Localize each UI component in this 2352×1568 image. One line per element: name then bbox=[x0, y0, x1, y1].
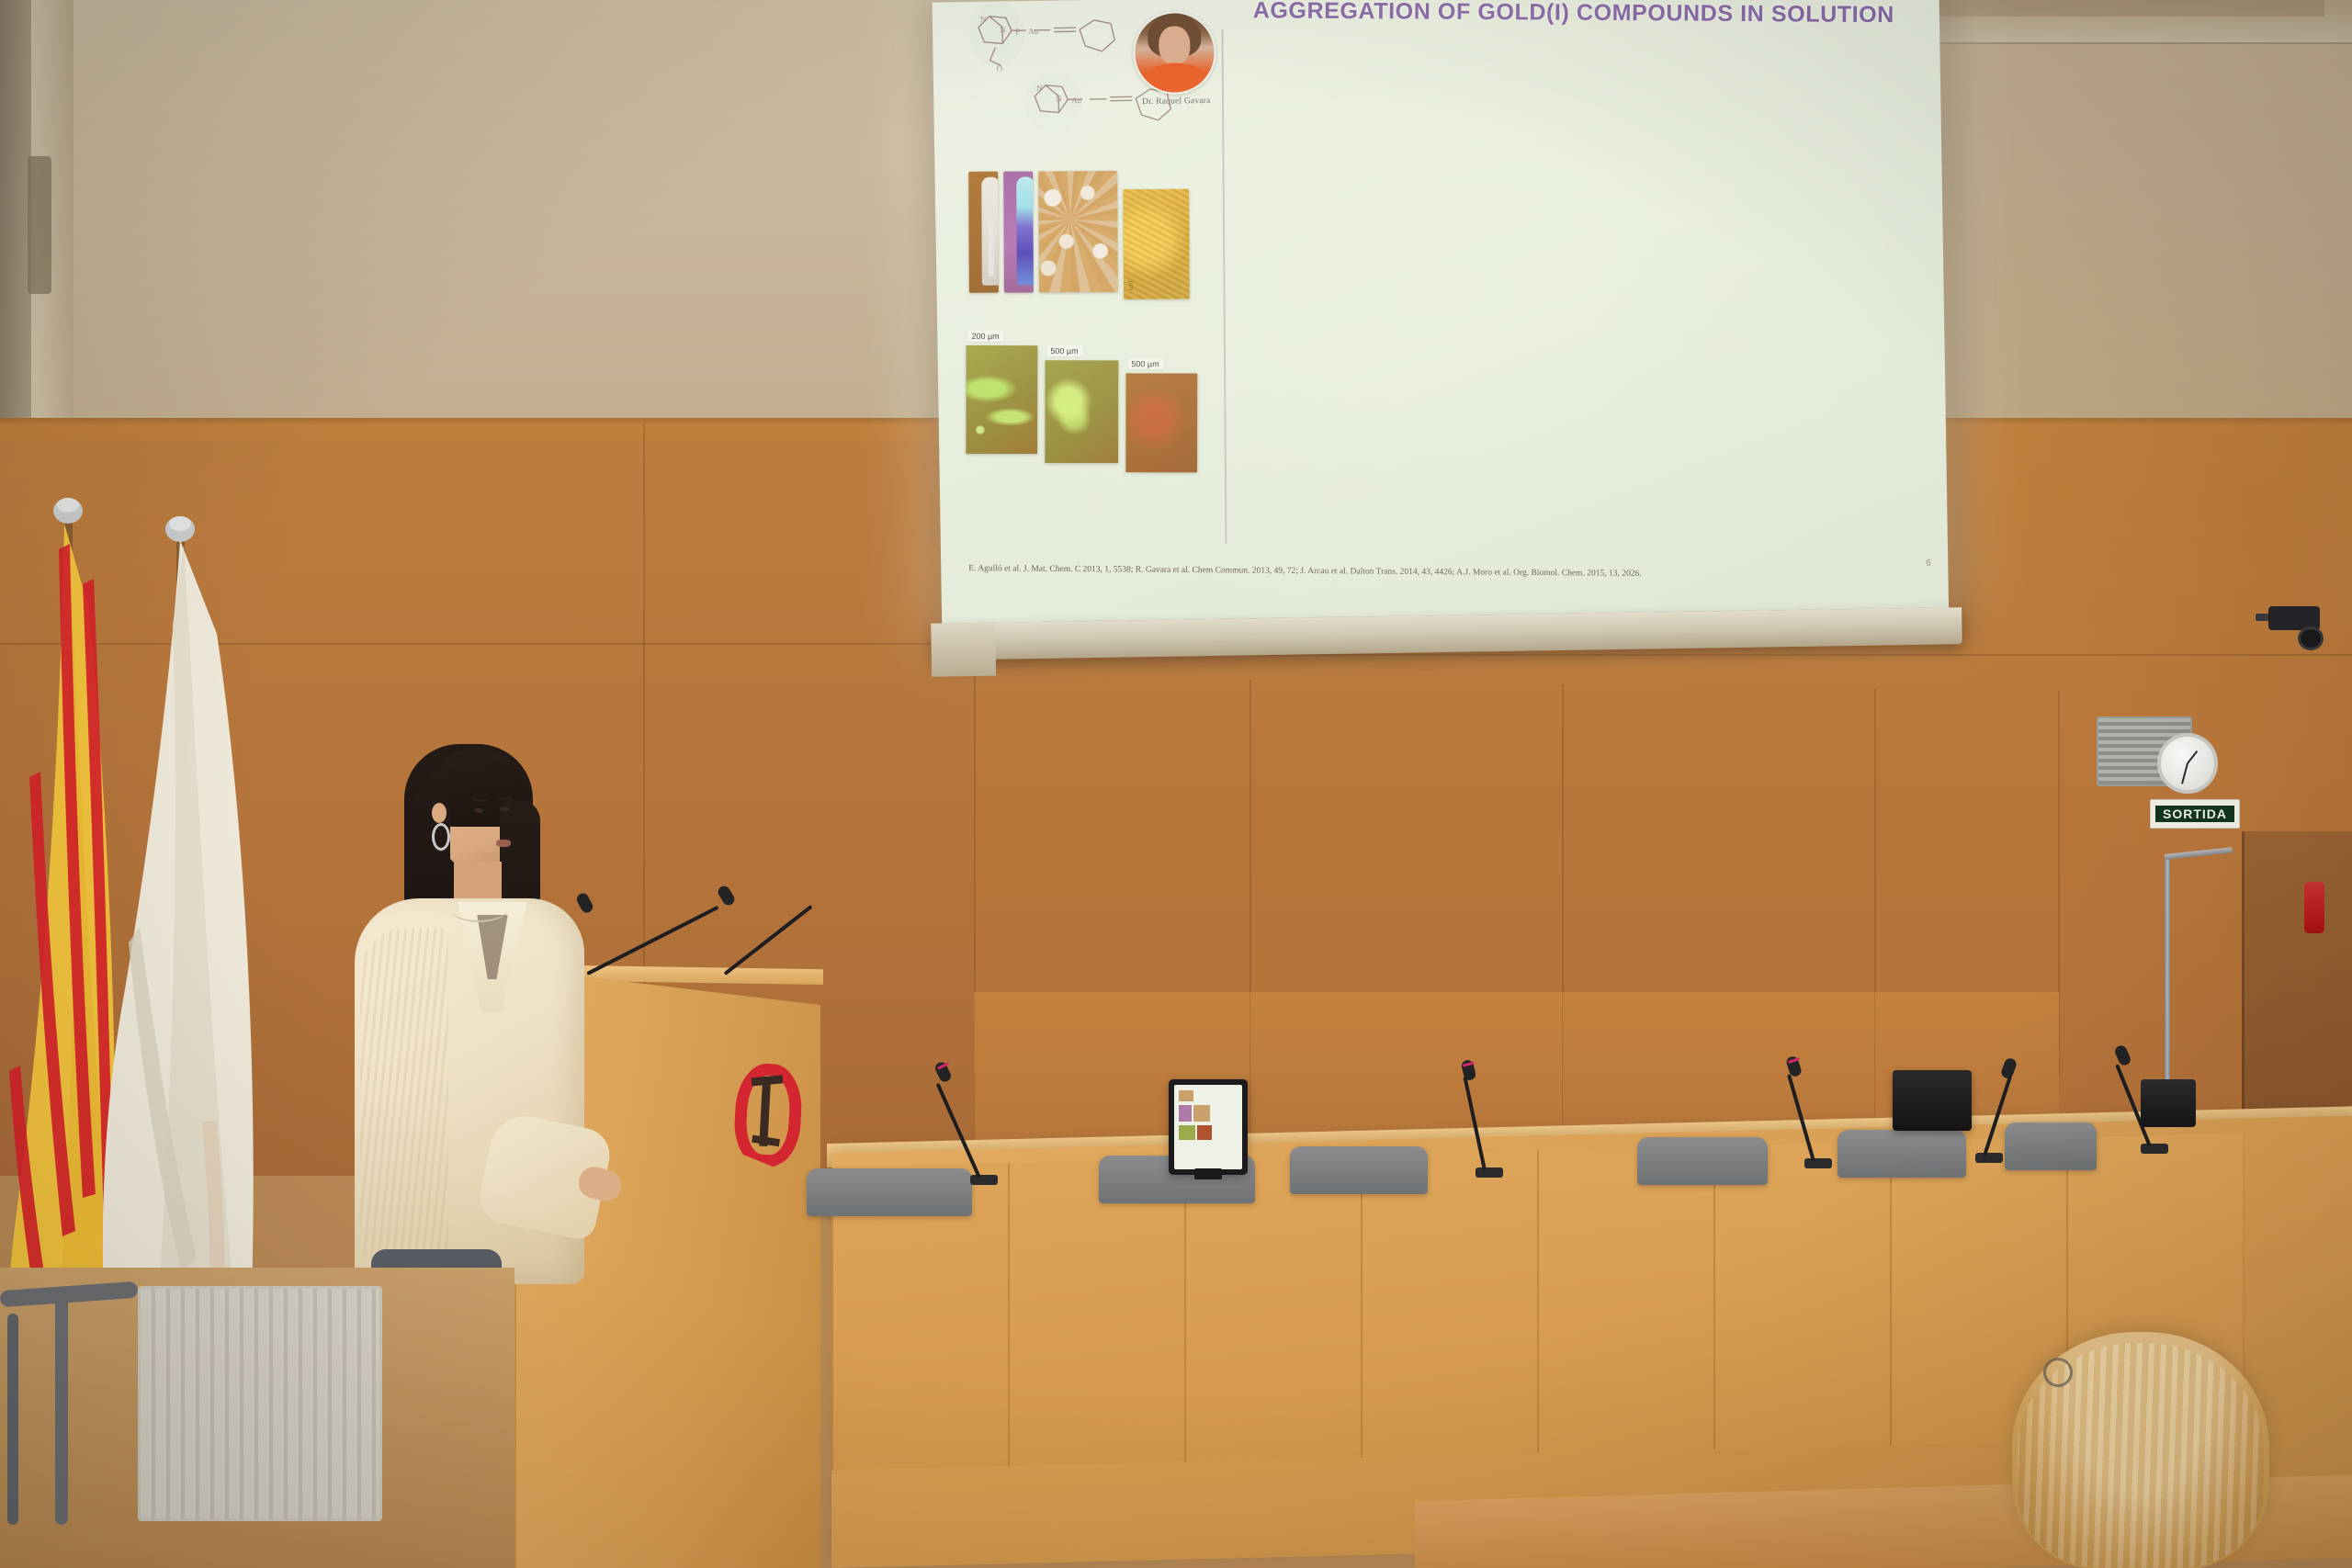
av-equipment-box-1 bbox=[1893, 1070, 1972, 1131]
dais-panel bbox=[1713, 1142, 1892, 1450]
exit-sign: SORTIDA bbox=[2150, 799, 2240, 829]
screen-surface: N N P Au O bbox=[933, 0, 1949, 624]
exit-sign-label: SORTIDA bbox=[2155, 806, 2234, 822]
conference-photo-scene: N N P Au O bbox=[0, 0, 2352, 1568]
scale-bar-label: 500 µm bbox=[1127, 358, 1163, 369]
earring-icon bbox=[432, 823, 450, 851]
svg-text:N: N bbox=[1056, 94, 1062, 103]
dais-panel bbox=[1008, 1159, 1186, 1467]
dais-chair bbox=[1837, 1130, 1966, 1178]
wall-clock bbox=[2157, 733, 2218, 794]
fire-extinguisher-icon bbox=[2304, 882, 2324, 933]
svg-text:Au: Au bbox=[1071, 96, 1082, 105]
slide-divider bbox=[1222, 29, 1227, 544]
presentation-slide: N N P Au O bbox=[933, 0, 1949, 624]
scale-bar-label: 200 µm bbox=[967, 331, 1003, 342]
dais-chair bbox=[1290, 1146, 1428, 1194]
collaborator-photo: Dr. Raquel Gavara bbox=[1133, 11, 1219, 113]
dais-chair bbox=[1637, 1137, 1768, 1185]
svg-text:P: P bbox=[1015, 27, 1020, 36]
fluorescence-micrograph-1: 200 µm bbox=[966, 345, 1037, 454]
svg-text:N: N bbox=[1000, 25, 1006, 34]
universitat-jaume-i-logo bbox=[732, 1062, 804, 1168]
svg-text:Au: Au bbox=[1028, 27, 1039, 36]
svg-text:N: N bbox=[1036, 84, 1043, 93]
confidence-monitor-screen bbox=[1174, 1085, 1242, 1169]
confidence-monitor[interactable] bbox=[1169, 1079, 1248, 1175]
projection-screen: N N P Au O bbox=[933, 0, 1953, 646]
fluorescence-micrograph-2: 500 µm bbox=[1045, 360, 1118, 463]
dais-chair bbox=[807, 1168, 972, 1216]
slide-reference-citation: E. Agulló et al. J. Mat. Chem. C 2013, 1… bbox=[968, 564, 1887, 581]
vial-daylight-image bbox=[968, 172, 999, 293]
av-equipment-box-2 bbox=[2141, 1079, 2196, 1127]
dais-panel bbox=[1537, 1145, 1715, 1453]
gold-film-micrograph-image: µm bbox=[1124, 189, 1190, 299]
screen-bottom-bar-left-cap bbox=[931, 623, 996, 677]
dais-panel bbox=[1361, 1150, 1539, 1458]
svg-text:O: O bbox=[997, 63, 1003, 73]
projector-mount-icon bbox=[2256, 606, 2329, 645]
scale-bar-label: 500 µm bbox=[1046, 345, 1082, 356]
left-column-shadow bbox=[0, 0, 31, 478]
vial-uv-image bbox=[1003, 171, 1034, 292]
stage-rail-post bbox=[7, 1314, 18, 1525]
stage-rail-post bbox=[55, 1295, 68, 1525]
figure-row-1: µm bbox=[968, 171, 1190, 300]
avatar bbox=[1133, 11, 1216, 95]
slide-title: AGGREGATION OF GOLD(I) COMPOUNDS IN SOLU… bbox=[1225, 0, 1923, 28]
collaborator-name: Dr. Raquel Gavara bbox=[1134, 96, 1218, 107]
fluorescence-micrograph-3: 500 µm bbox=[1125, 373, 1197, 472]
svg-text:N: N bbox=[980, 15, 987, 24]
sem-micrograph-image bbox=[1038, 171, 1118, 292]
radiator bbox=[138, 1286, 382, 1521]
confidence-monitor-stand bbox=[1194, 1168, 1222, 1179]
dais-chair bbox=[2005, 1122, 2097, 1170]
wall-speaker-icon bbox=[28, 156, 51, 294]
slide-page-number: 6 bbox=[1927, 558, 1932, 569]
figure-row-2: 200 µm 500 µm 500 µm bbox=[966, 333, 1197, 461]
chem-structure-1-icon: N N P Au O bbox=[966, 1, 1150, 77]
